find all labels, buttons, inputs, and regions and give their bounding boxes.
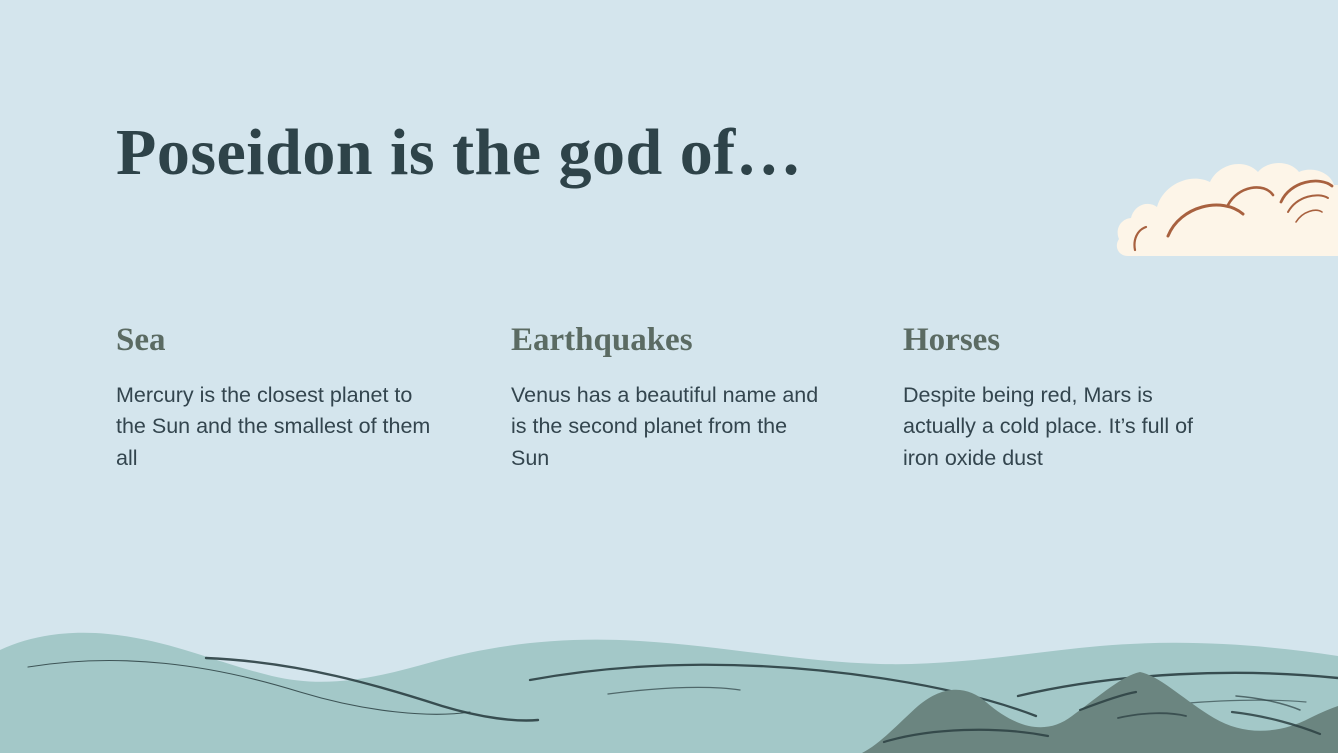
feature-columns: Sea Mercury is the closest planet to the…	[0, 322, 1338, 502]
slide: Poseidon is the god of… Sea Mercury is t…	[0, 0, 1338, 753]
column-body-sea: Mercury is the closest planet to the Sun…	[116, 380, 434, 474]
column-body-horses: Despite being red, Mars is actually a co…	[903, 380, 1228, 474]
column-horses: Horses Despite being red, Mars is actual…	[903, 322, 1233, 474]
column-heading-earthquakes: Earthquakes	[511, 322, 841, 358]
column-body-earthquakes: Venus has a beautiful name and is the se…	[511, 380, 829, 474]
column-sea: Sea Mercury is the closest planet to the…	[116, 322, 446, 474]
column-heading-horses: Horses	[903, 322, 1233, 358]
page-title: Poseidon is the god of…	[116, 120, 802, 186]
column-heading-sea: Sea	[116, 322, 446, 358]
column-earthquakes: Earthquakes Venus has a beautiful name a…	[511, 322, 841, 474]
slide-content: Poseidon is the god of… Sea Mercury is t…	[0, 0, 1338, 753]
